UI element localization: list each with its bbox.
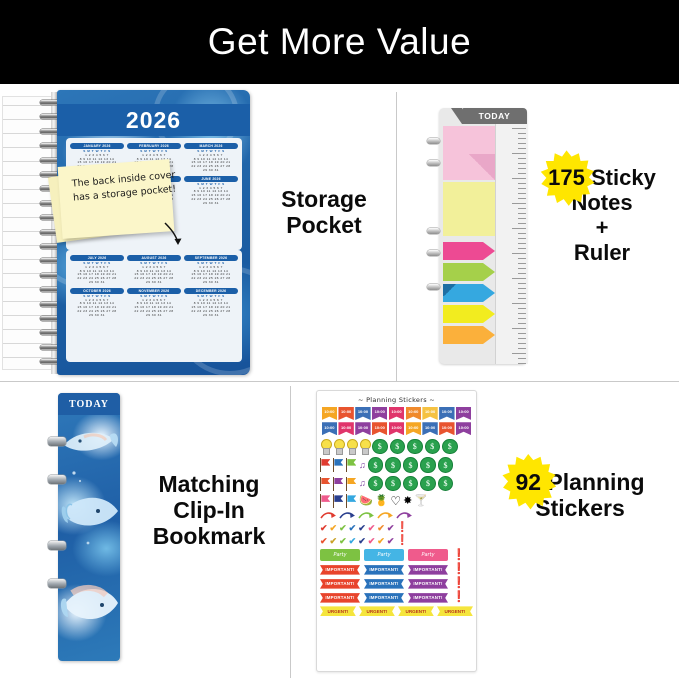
- calendar-week-row: 29 30 31: [184, 202, 238, 206]
- pad-ring-icon: [427, 250, 440, 256]
- sticky-flag: [443, 263, 495, 281]
- urgent-label: URGENT!: [406, 609, 427, 614]
- calendar-month: DECEMBER 2026S M T W T F S1 2 3 4 5 6 78…: [184, 288, 238, 318]
- time-banner-label: 10:00: [442, 409, 452, 414]
- time-banner-sticker: 10:00: [389, 407, 404, 420]
- important-sticker: IMPORTANT!: [408, 565, 448, 575]
- time-banner-label: 10:00: [425, 425, 435, 430]
- sticker-row: IMPORTANT!IMPORTANT!IMPORTANT!❗: [317, 591, 476, 605]
- flag-icon: [333, 477, 344, 491]
- important-label: IMPORTANT!: [369, 567, 398, 572]
- checkmark-icon: ✔: [377, 524, 385, 533]
- time-banner-sticker: 10:00: [372, 422, 387, 435]
- pad-ring-icon: [427, 284, 440, 290]
- important-sticker: IMPORTANT!: [320, 579, 360, 589]
- sticky-note-square-yellow: [443, 182, 495, 236]
- bookmark-today-tab: TODAY: [58, 393, 120, 415]
- calendar-month-name: NOVEMBER 2026: [127, 288, 181, 294]
- calendar-month: MARCH 2026S M T W T F S1 2 3 4 5 6 78 9 …: [184, 143, 238, 173]
- money-coin-icon: $: [385, 476, 401, 492]
- sticker-row: IMPORTANT!IMPORTANT!IMPORTANT!❗: [317, 577, 476, 591]
- sticker-banner-row: 10:0010:0010:0010:0010:0010:0010:0010:00…: [317, 407, 476, 422]
- time-banner-label: 10:00: [391, 409, 401, 414]
- calendar-week-row: 29 30 31: [184, 281, 238, 285]
- time-banner-sticker: 10:00: [338, 407, 353, 420]
- time-banner-sticker: 10:00: [372, 407, 387, 420]
- urgent-label: URGENT!: [328, 609, 349, 614]
- important-sticker: IMPORTANT!: [320, 565, 360, 575]
- money-coin-icon: $: [403, 476, 419, 492]
- bookmark-body: [58, 393, 120, 661]
- cocktail-icon: 🍸: [414, 496, 428, 507]
- arrow-icon: [339, 511, 356, 520]
- arrow-icon: [377, 511, 394, 520]
- party-sticker: Party: [408, 549, 448, 561]
- urgent-sticker: URGENT!: [437, 606, 473, 616]
- important-label: IMPORTANT!: [369, 595, 398, 600]
- sticker-row: ♫$$$$$: [317, 456, 476, 475]
- count-badge-175: 175: [548, 166, 585, 191]
- exclamation-icon: ❗: [396, 523, 408, 533]
- clip-tab-icon: [48, 579, 66, 588]
- money-coin-icon: $: [385, 457, 401, 473]
- time-banner-sticker: 10:00: [406, 407, 421, 420]
- lightbulb-icon: [359, 439, 370, 454]
- urgent-label: URGENT!: [367, 609, 388, 614]
- checkmark-icon: ✔: [339, 524, 347, 533]
- party-sticker: Party: [364, 549, 404, 561]
- important-sticker: IMPORTANT!: [364, 593, 404, 603]
- time-banner-label: 10:00: [425, 409, 435, 414]
- calendar-week-row: 29 30 31: [127, 281, 181, 285]
- sticker-banner-row: 10:0010:0010:0010:0010:0010:0010:0010:00…: [317, 422, 476, 437]
- arrow-icon: [320, 511, 337, 520]
- sticker-row: ♫$$$$$: [317, 474, 476, 493]
- calendar-year: 2026: [126, 107, 181, 134]
- calendar-month: OCTOBER 2026S M T W T F S1 2 3 4 5 6 78 …: [70, 288, 124, 318]
- fish-artwork: [58, 393, 120, 661]
- sticky-flag: [443, 305, 495, 323]
- money-coin-icon: $: [390, 439, 406, 455]
- checkmark-icon: ✔: [358, 537, 366, 546]
- bookmark-today-label: TODAY: [69, 399, 109, 410]
- important-sticker: IMPORTANT!: [408, 579, 448, 589]
- important-sticker: IMPORTANT!: [408, 593, 448, 603]
- flag-icon: [333, 494, 344, 508]
- flag-icon: [333, 458, 344, 472]
- sticker-row: $$$$$: [317, 437, 476, 456]
- pad-today-tab: TODAY: [462, 108, 527, 124]
- exclamation-icon: ❗: [452, 578, 466, 589]
- lightbulb-icon: [346, 439, 357, 454]
- urgent-label: URGENT!: [445, 609, 466, 614]
- time-banner-sticker: 10:00: [322, 407, 337, 420]
- important-label: IMPORTANT!: [413, 567, 442, 572]
- time-banner-sticker: 10:00: [355, 407, 370, 420]
- time-banner-sticker: 10:00: [338, 422, 353, 435]
- important-label: IMPORTANT!: [325, 581, 354, 586]
- party-label: Party: [377, 552, 390, 558]
- money-coin-icon: $: [407, 439, 423, 455]
- money-coin-icon: $: [403, 457, 419, 473]
- important-label: IMPORTANT!: [369, 581, 398, 586]
- calendar-week-row: 29 30 31: [127, 314, 181, 318]
- checkmark-icon: ✔: [368, 524, 376, 533]
- storage-pocket-caption: Storage Pocket: [254, 186, 394, 238]
- exclamation-icon: ❗: [452, 592, 466, 603]
- sticky-notes-caption: 175 Sticky Notes + Ruler: [525, 166, 679, 265]
- money-coin-icon: $: [442, 439, 458, 455]
- checkmark-icon: ✔: [377, 537, 385, 546]
- sticky-note-square-pink: [443, 126, 495, 180]
- time-banner-label: 10:00: [324, 425, 334, 430]
- exclamation-icon: ❗: [452, 564, 466, 575]
- stickers-caption: 92 Planning Stickers: [481, 469, 679, 521]
- time-banner-sticker: 10:00: [456, 407, 471, 420]
- calendar-month-name: JUNE 2026: [184, 176, 238, 182]
- checkmark-icon: ✔: [368, 537, 376, 546]
- sticky-flag: [443, 326, 495, 344]
- urgent-sticker: URGENT!: [398, 606, 434, 616]
- sticker-row: ✔✔✔✔✔✔✔✔❗: [317, 522, 476, 535]
- time-banner-label: 10:00: [459, 409, 469, 414]
- urgent-sticker: URGENT!: [320, 606, 356, 616]
- money-coin-icon: $: [368, 476, 384, 492]
- time-banner-label: 10:00: [324, 409, 334, 414]
- page-fold-icon: [469, 154, 495, 180]
- heart-icon: ♡: [390, 495, 401, 507]
- checkmark-icon: ✔: [320, 524, 328, 533]
- flag-icon: [320, 458, 331, 472]
- sticker-row: URGENT!URGENT!URGENT!URGENT!: [317, 605, 476, 618]
- flag-icon: [346, 477, 357, 491]
- flag-icon: [346, 458, 357, 472]
- clip-tab-icon: [48, 437, 66, 446]
- lightbulb-icon: [333, 439, 344, 454]
- money-coin-icon: $: [372, 439, 388, 455]
- party-sticker: Party: [320, 549, 360, 561]
- count-badge-92: 92: [515, 469, 541, 495]
- pad-ring-icon: [427, 228, 440, 234]
- important-sticker: IMPORTANT!: [364, 565, 404, 575]
- flag-icon: [320, 494, 331, 508]
- important-label: IMPORTANT!: [325, 595, 354, 600]
- time-banner-label: 10:00: [358, 409, 368, 414]
- quadrant-stickers: ~ Planning Stickers ~ 10:0010:0010:0010:…: [291, 383, 679, 678]
- important-label: IMPORTANT!: [413, 595, 442, 600]
- time-banner-label: 10:00: [442, 425, 452, 430]
- time-banner-label: 10:00: [459, 425, 469, 430]
- important-sticker: IMPORTANT!: [320, 593, 360, 603]
- planner-illustration: 2026 JANUARY 2026S M T W T F S1 2 3 4 5 …: [2, 90, 252, 375]
- time-banner-sticker: 10:00: [439, 407, 454, 420]
- time-banner-sticker: 10:00: [389, 422, 404, 435]
- calendar-week-row: 29 30 31: [70, 281, 124, 285]
- lightbulb-icon: [320, 439, 331, 454]
- page-title: Get More Value: [208, 21, 471, 63]
- calendar-year-band: 2026: [57, 104, 250, 136]
- arrow-icon: [396, 511, 413, 520]
- calendar-month: JUNE 2026S M T W T F S1 2 3 4 5 6 78 9 1…: [184, 176, 238, 206]
- urgent-sticker: URGENT!: [359, 606, 395, 616]
- time-banner-sticker: 10:00: [456, 422, 471, 435]
- bookmark-illustration: TODAY: [48, 393, 120, 665]
- calendar-week-row: 29 30 31: [184, 169, 238, 173]
- ruler-icon: [495, 124, 528, 364]
- checkmark-icon: ✔: [349, 537, 357, 546]
- flag-icon: [346, 494, 357, 508]
- important-label: IMPORTANT!: [325, 567, 354, 572]
- time-banner-sticker: 10:00: [355, 422, 370, 435]
- flag-icon: [320, 477, 331, 491]
- exclamation-icon: ❗: [452, 550, 466, 561]
- time-banner-label: 10:00: [341, 409, 351, 414]
- sticky-flag: [443, 284, 495, 302]
- time-banner-sticker: 10:00: [406, 422, 421, 435]
- sticky-flag: [443, 242, 495, 260]
- checkmark-icon: ✔: [349, 524, 357, 533]
- money-coin-icon: $: [425, 439, 441, 455]
- music-note-icon: ♫: [359, 479, 366, 488]
- header-banner: Get More Value: [0, 0, 679, 84]
- time-banner-label: 10:00: [358, 425, 368, 430]
- sticker-sheet: ~ Planning Stickers ~ 10:0010:0010:0010:…: [316, 390, 477, 672]
- pointer-arrow-icon: [162, 222, 184, 248]
- checkmark-icon: ✔: [330, 537, 338, 546]
- time-banner-label: 10:00: [375, 409, 385, 414]
- pineapple-icon: 🍍: [375, 496, 389, 507]
- pad-today-label: TODAY: [479, 111, 511, 121]
- time-banner-sticker: 10:00: [422, 407, 437, 420]
- checkmark-icon: ✔: [330, 524, 338, 533]
- music-note-icon: ♫: [359, 461, 366, 470]
- arrow-icon: [358, 511, 375, 520]
- checkmark-icon: ✔: [320, 537, 328, 546]
- money-coin-icon: $: [438, 457, 454, 473]
- sticker-row: ✔✔✔✔✔✔✔✔❗: [317, 535, 476, 548]
- calendar-week-row: 29 30 31: [70, 314, 124, 318]
- money-coin-icon: $: [420, 476, 436, 492]
- time-banner-label: 10:00: [391, 425, 401, 430]
- horizontal-divider: [0, 381, 679, 382]
- watermelon-icon: 🍉: [359, 496, 373, 507]
- checkmark-icon: ✔: [339, 537, 347, 546]
- quadrant-sticky-notes: TODAY 175 Sticky Notes + Ruler: [397, 88, 679, 381]
- checkmark-icon: ✔: [387, 524, 395, 533]
- sticker-row: IMPORTANT!IMPORTANT!IMPORTANT!❗: [317, 563, 476, 577]
- calendar-month: JULY 2026S M T W T F S1 2 3 4 5 6 78 9 1…: [70, 255, 124, 285]
- time-banner-sticker: 10:00: [439, 422, 454, 435]
- time-banner-sticker: 10:00: [422, 422, 437, 435]
- calendar-month-name: OCTOBER 2026: [70, 288, 124, 294]
- sticker-sheet-title: ~ Planning Stickers ~: [317, 391, 476, 407]
- party-label: Party: [421, 552, 434, 558]
- quadrant-storage-pocket: 2026 JANUARY 2026S M T W T F S1 2 3 4 5 …: [0, 88, 396, 381]
- product-infographic: Get More Value 2026 JANUARY 2026S M T W …: [0, 0, 679, 678]
- money-coin-icon: $: [368, 457, 384, 473]
- time-banner-sticker: 10:00: [322, 422, 337, 435]
- quadrant-bookmark: TODAY Matching Clip-In Bookmark: [0, 383, 290, 678]
- calendar-week-row: 29 30 31: [184, 314, 238, 318]
- sticker-row: PartyPartyParty❗: [317, 548, 476, 563]
- time-banner-label: 10:00: [375, 425, 385, 430]
- sticky-note-pad-illustration: TODAY: [433, 98, 530, 366]
- pad-ring-icon: [427, 160, 440, 166]
- calendar-month: SEPTEMBER 2026S M T W T F S1 2 3 4 5 6 7…: [184, 255, 238, 285]
- sticker-row: [317, 510, 476, 522]
- calendar-month: AUGUST 2026S M T W T F S1 2 3 4 5 6 78 9…: [127, 255, 181, 285]
- money-coin-icon: $: [438, 476, 454, 492]
- money-coin-icon: $: [420, 457, 436, 473]
- calendar-month: NOVEMBER 2026S M T W T F S1 2 3 4 5 6 78…: [127, 288, 181, 318]
- checkmark-icon: ✔: [358, 524, 366, 533]
- sticker-row: 🍉🍍♡✸🍸: [317, 493, 476, 510]
- pad-ring-icon: [427, 138, 440, 144]
- sparkle-icon: ✸: [403, 496, 412, 507]
- time-banner-label: 10:00: [408, 409, 418, 414]
- checkmark-icon: ✔: [387, 537, 395, 546]
- clip-tab-icon: [48, 541, 66, 550]
- party-label: Party: [333, 552, 346, 558]
- important-sticker: IMPORTANT!: [364, 579, 404, 589]
- bookmark-caption: Matching Clip-In Bookmark: [128, 471, 290, 549]
- important-label: IMPORTANT!: [413, 581, 442, 586]
- exclamation-icon: ❗: [396, 536, 408, 546]
- calendar-month-name: DECEMBER 2026: [184, 288, 238, 294]
- time-banner-label: 10:00: [341, 425, 351, 430]
- clip-tab-icon: [48, 475, 66, 484]
- time-banner-label: 10:00: [408, 425, 418, 430]
- calendar-panel-bottom: JULY 2026S M T W T F S1 2 3 4 5 6 78 9 1…: [66, 250, 242, 362]
